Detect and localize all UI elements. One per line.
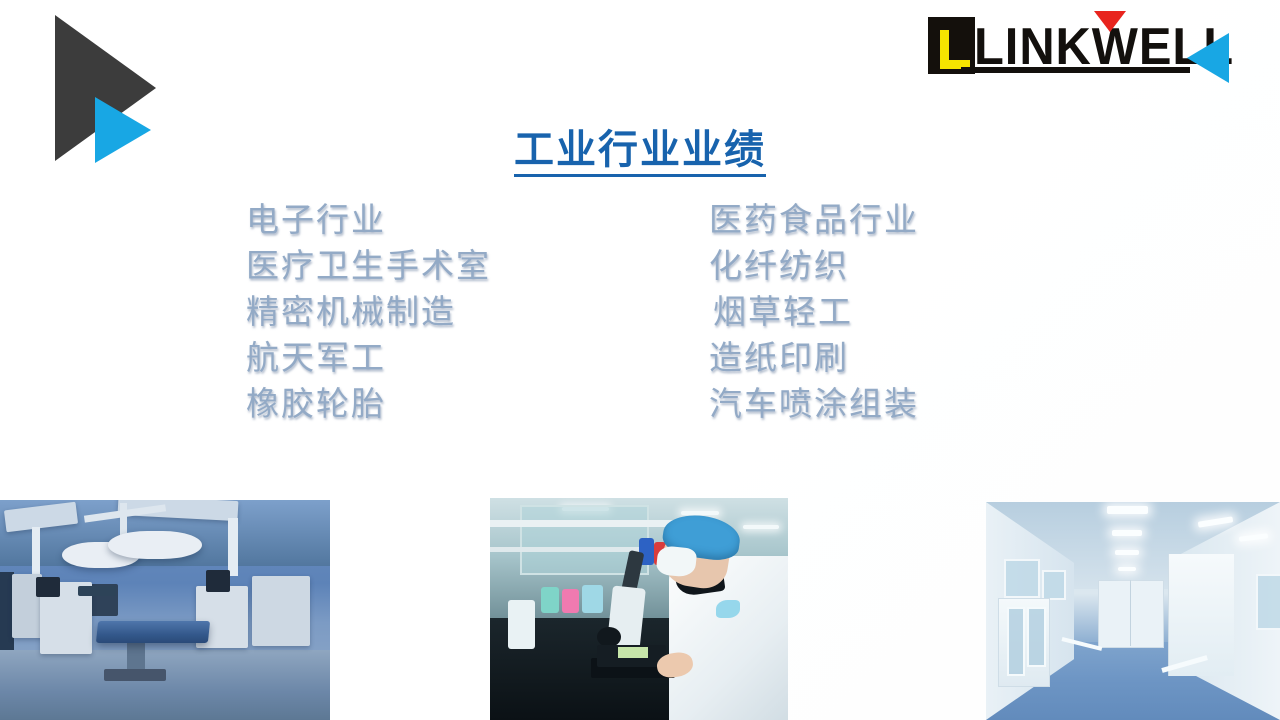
- list-item: 汽车喷涂组装: [709, 382, 919, 428]
- or-pendant-column: [32, 527, 40, 579]
- list-item: 化纤纺织: [709, 244, 919, 290]
- or-operating-table: [96, 621, 210, 643]
- logo-cyan-triangle-icon: [1187, 33, 1229, 83]
- or-monitor: [206, 570, 230, 592]
- presentation-slide: LINKWELL 工业行业业绩 电子行业 医疗卫生手术室 精密机械制造 航天军工…: [0, 0, 1280, 720]
- list-item: 精密机械制造: [246, 290, 491, 336]
- photo-operating-room: [0, 500, 330, 720]
- cr-view-window: [1042, 570, 1067, 600]
- ceiling-light-icon: [1107, 506, 1148, 514]
- lab-shelf: [490, 547, 651, 552]
- lab-reagent-bottle: [508, 600, 535, 649]
- list-item: 航天军工: [246, 336, 491, 382]
- industry-list: 电子行业 医疗卫生手术室 精密机械制造 航天军工 橡胶轮胎 医药食品行业 化纤纺…: [246, 198, 1106, 428]
- lab-reagent-bottle: [582, 585, 603, 614]
- lab-coat-badge: [716, 600, 740, 618]
- cr-cabinet-glass: [1007, 607, 1026, 676]
- slide-title: 工业行业业绩: [0, 117, 1280, 175]
- industry-list-left-column: 电子行业 医疗卫生手术室 精密机械制造 航天军工 橡胶轮胎: [246, 198, 491, 428]
- list-item: 橡胶轮胎: [246, 382, 491, 428]
- or-pendant-column: [228, 518, 238, 576]
- cleanroom-scene: [986, 502, 1280, 720]
- or-table-base: [104, 669, 166, 681]
- operating-room-scene: [0, 500, 330, 720]
- list-item: 烟草轻工: [709, 290, 919, 336]
- laboratory-scene: [490, 498, 788, 720]
- list-item: 电子行业: [246, 198, 491, 244]
- logo-mark-box: [928, 17, 975, 74]
- ceiling-light-icon: [1115, 550, 1139, 555]
- or-monitor: [36, 577, 60, 597]
- ceiling-light-icon: [1112, 530, 1141, 536]
- slide-title-text: 工业行业业绩: [514, 127, 766, 177]
- or-equipment-cart: [252, 576, 310, 646]
- lab-shelf: [490, 520, 675, 527]
- ceiling-light-icon: [1118, 567, 1136, 571]
- list-item: 造纸印刷: [709, 336, 919, 382]
- linkwell-logo: LINKWELL: [928, 10, 1228, 90]
- list-item: 医药食品行业: [709, 198, 919, 244]
- ceiling-light-icon: [743, 525, 779, 529]
- industry-list-right-column: 医药食品行业 化纤纺织 烟草轻工 造纸印刷 汽车喷涂组装: [709, 198, 919, 428]
- logo-red-triangle-icon: [1094, 11, 1126, 32]
- photo-cleanroom-corridor: [986, 502, 1280, 720]
- surgical-light-icon: [108, 531, 202, 559]
- or-floor: [0, 650, 330, 720]
- cr-door-seam: [1130, 580, 1131, 645]
- photo-laboratory-microscope: [490, 498, 788, 720]
- or-light-arm: [120, 503, 127, 537]
- list-item: 医疗卫生手术室: [246, 244, 491, 290]
- lab-technician-mask: [655, 545, 697, 578]
- lab-reagent-bottle: [562, 589, 580, 613]
- lab-reagent-bottle: [541, 587, 559, 614]
- cr-view-window: [1256, 574, 1280, 630]
- cr-cabinet-glass: [1027, 607, 1046, 668]
- cr-view-window: [1004, 559, 1040, 598]
- cr-end-door: [1098, 580, 1165, 647]
- or-monitor: [78, 586, 116, 596]
- microscope-display: [618, 647, 648, 658]
- microscope-knob: [597, 627, 621, 647]
